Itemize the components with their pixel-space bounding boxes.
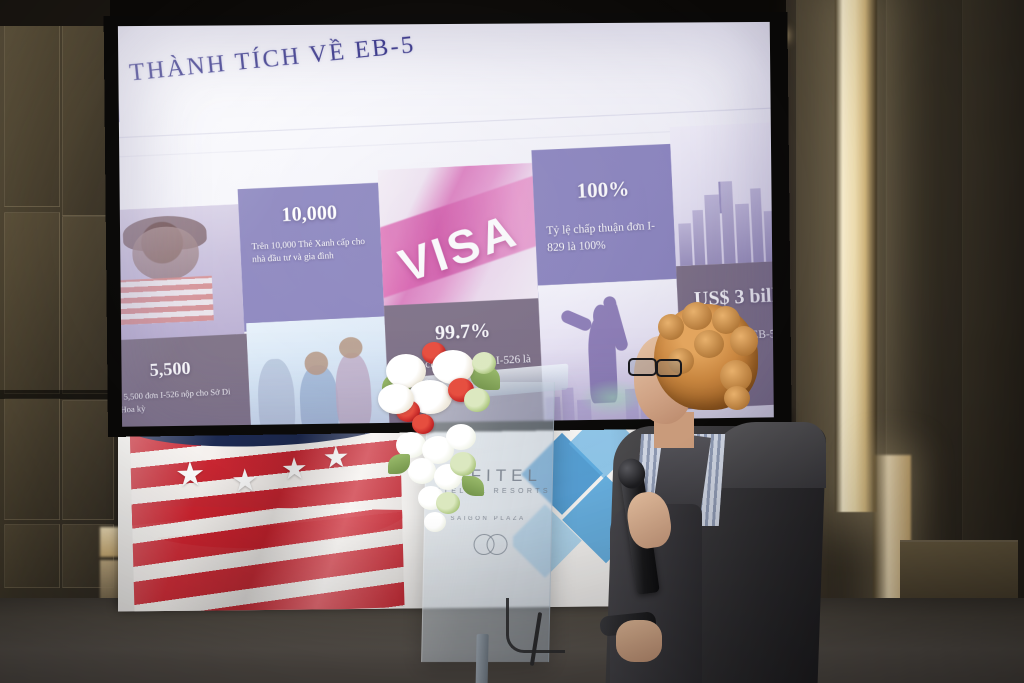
tile-caption: Trên 5,500 đơn I-526 nộp cho Sở Di Trú H… [118,385,241,416]
tile-green-cards: 10,000 Trên 10,000 Thẻ Xanh cấp cho nhà … [238,183,385,332]
lower-hand [616,620,662,662]
vertical-light-column [835,0,877,512]
speaker-person [592,296,828,683]
floral-arrangement [378,336,506,546]
photo-visa-document: VISA [378,163,539,319]
photo-girl-with-flag [118,204,245,345]
curly-hair [654,304,758,410]
ceiling-left [0,0,118,26]
tile-number: 5,500 [118,355,249,384]
eyeglasses [628,358,682,373]
american-flag-graphic [129,412,404,611]
tile-caption: Trên 10,000 Thẻ Xanh cấp cho nhà đầu tư … [251,234,373,266]
tile-i829-approval: 100% Tỷ lệ chấp thuận đơn I-829 là 100% [531,144,677,298]
tile-number: 10,000 [238,200,380,230]
photo-city-skyline [669,121,773,275]
tile-number: 100% [533,175,673,206]
presentation-photo: THÀNH TÍCH VỀ EB-5 10,000 Trên 10,000 Th… [0,0,1024,683]
left-wall-panelling [0,0,118,610]
tile-caption: Tỷ lệ chấp thuận đơn I-829 là 100% [546,218,667,257]
photo-family [246,316,391,426]
tile-i526-filed: 5,500 Trên 5,500 đơn I-526 nộp cho Sở Di… [118,334,253,427]
